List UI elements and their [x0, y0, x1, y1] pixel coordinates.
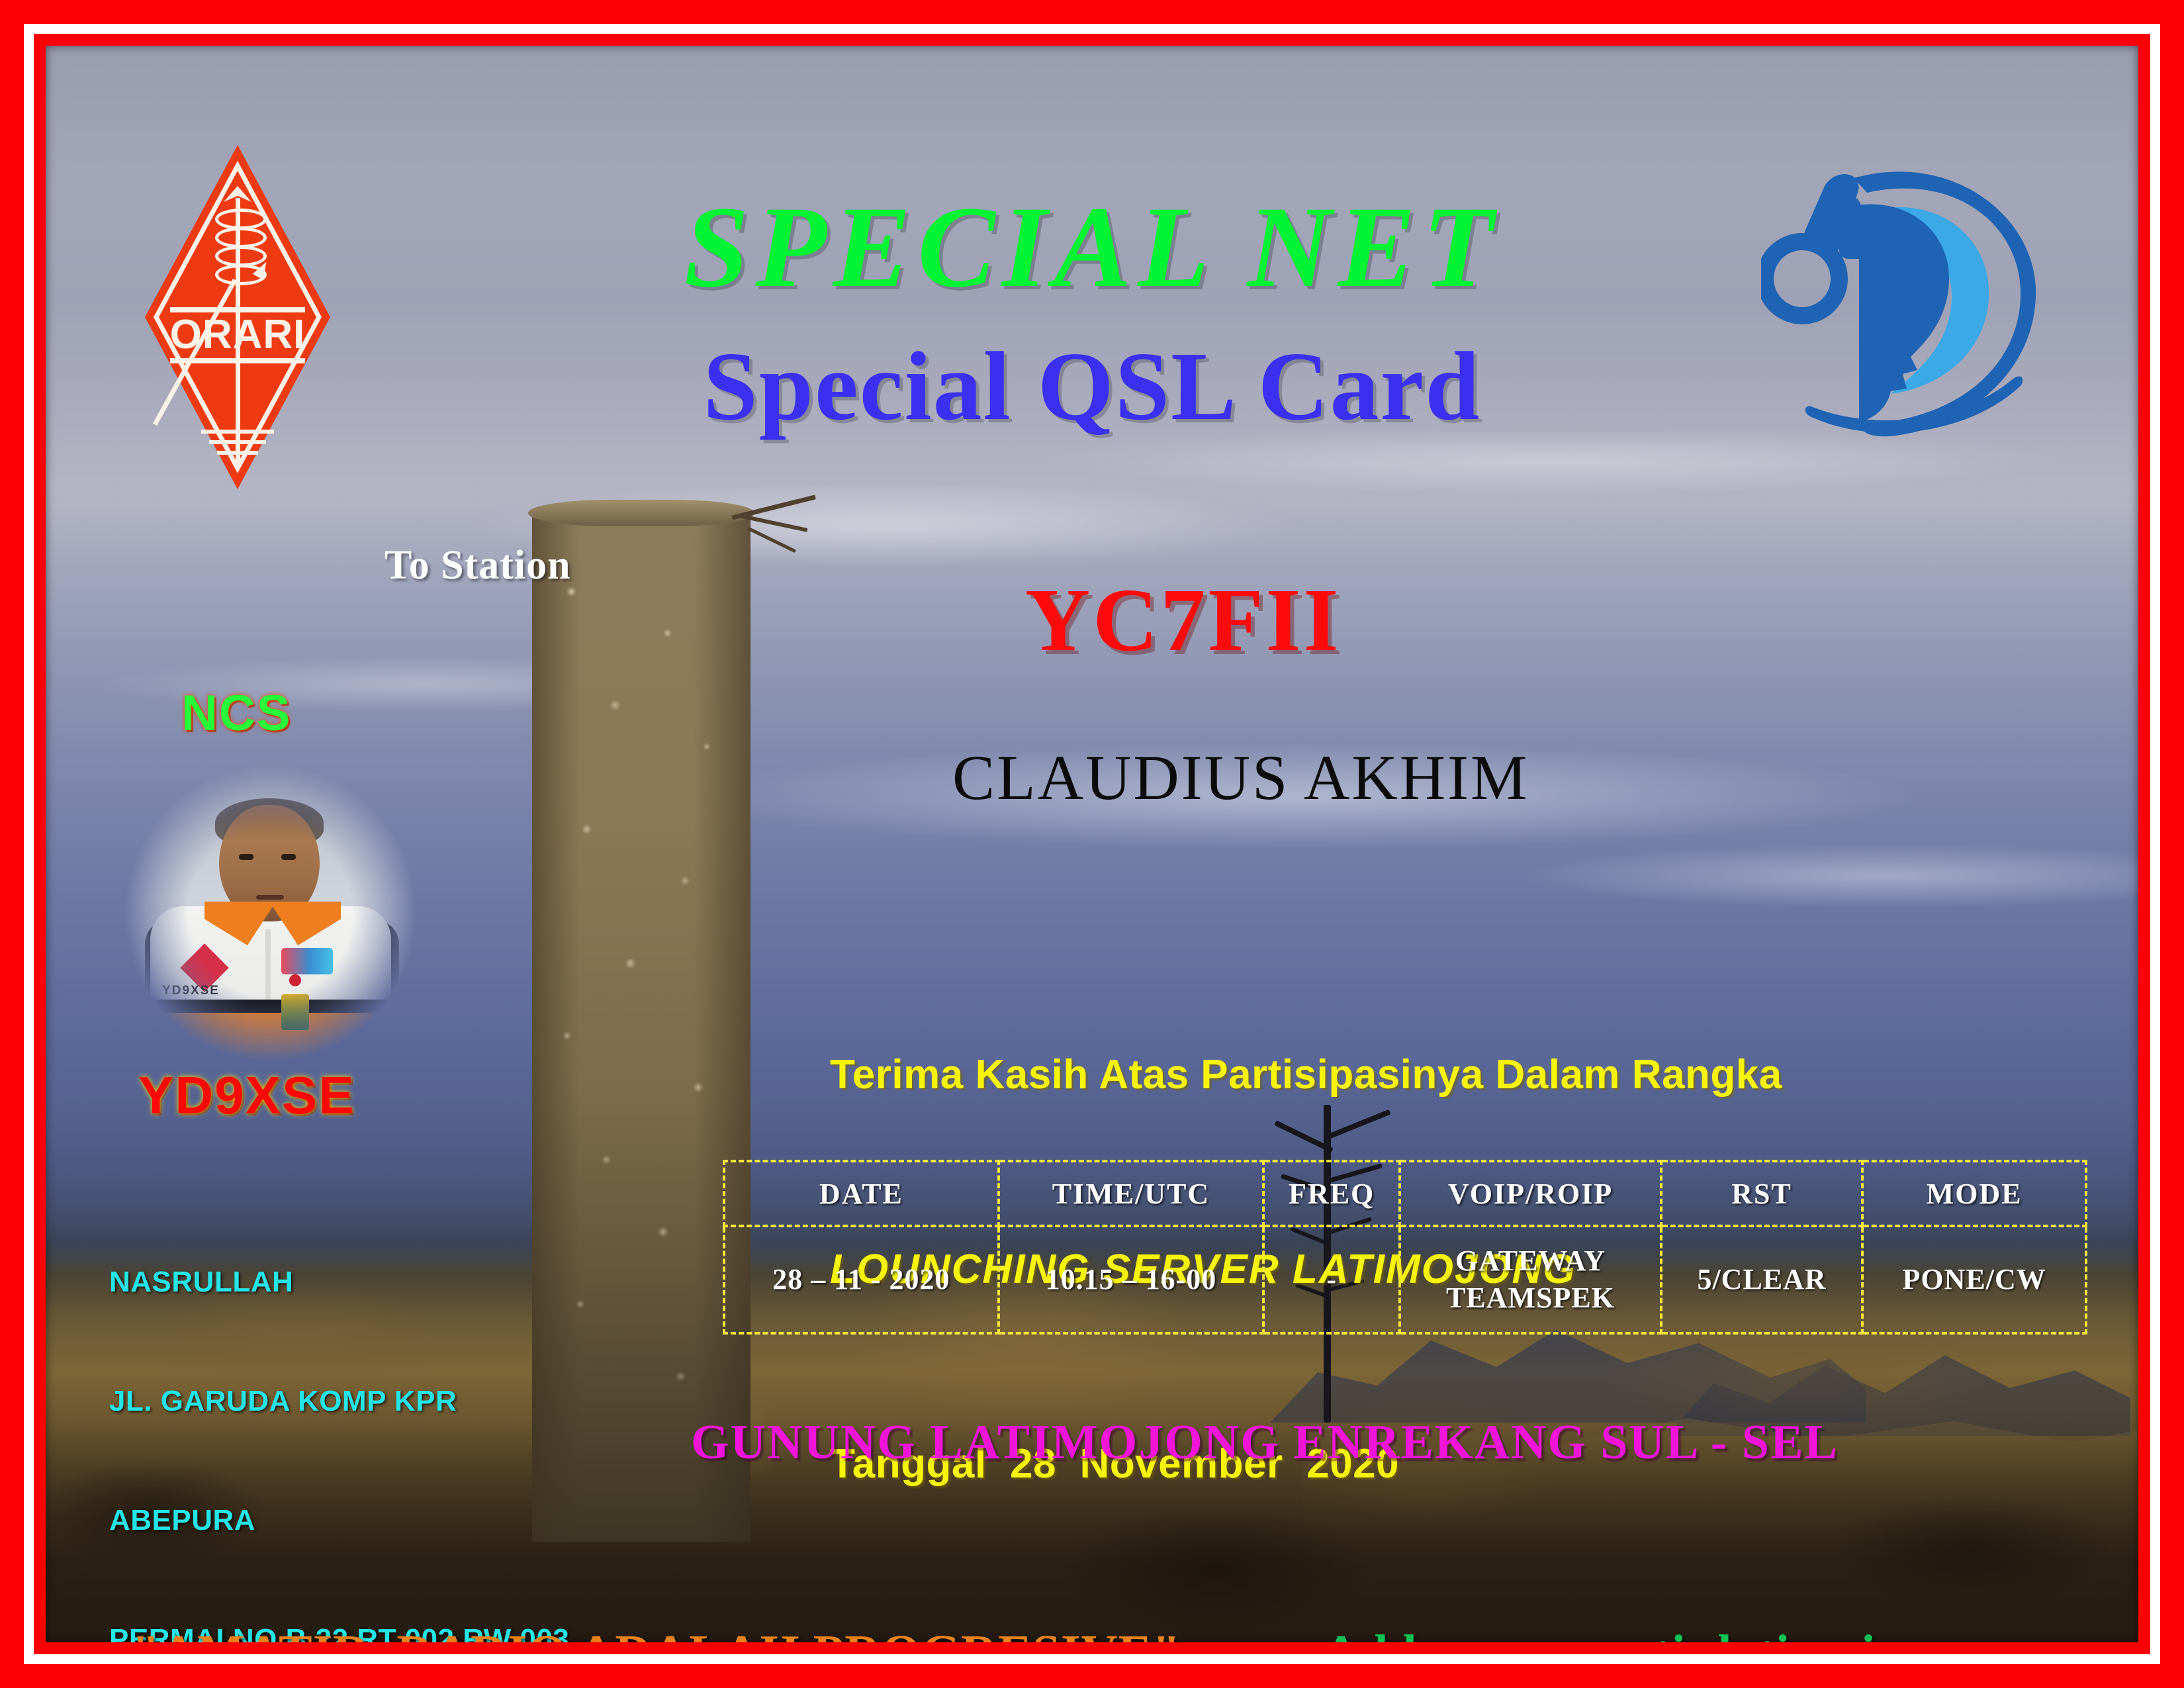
qsl-card: ORARI	[0, 0, 2184, 1688]
station-callsign: YC7FII	[1025, 569, 1341, 672]
address-block: NASRULLAH JL. GARUDA KOMP KPR ABEPURA PE…	[109, 1183, 569, 1642]
ncs-callsign: YD9XSE	[138, 1065, 355, 1126]
table-header-row: DATE TIME/UTC FREQ VOIP/ROIP RST MODE	[724, 1161, 2086, 1226]
orari-ground-symbol	[209, 440, 266, 444]
heading-special-qsl-card: Special QSL Card	[46, 337, 2138, 436]
cell-time: 10.15 – 16-00	[999, 1226, 1263, 1333]
uniform-callsign-tag: YD9XSE	[162, 984, 220, 998]
col-header-mode: MODE	[1862, 1161, 2086, 1226]
cell-date: 28 – 11 - 2020	[724, 1226, 999, 1333]
heading-special-net: SPECIAL NET	[46, 188, 2138, 307]
inner-red-frame: ORARI	[34, 34, 2150, 1654]
cell-rst: 5/CLEAR	[1661, 1226, 1862, 1333]
operator-name: CLAUDIUS AKHIM	[952, 741, 1529, 814]
cell-freq: -	[1263, 1226, 1400, 1333]
ncs-operator-photo: YD9XSE	[118, 764, 423, 1062]
cell-voip: GATEWAY TEAMSPEK	[1400, 1226, 1661, 1333]
address-line: NASRULLAH	[109, 1262, 569, 1302]
col-header-rst: RST	[1661, 1161, 1862, 1226]
col-header-freq: FREQ	[1263, 1161, 1400, 1226]
address-line: JL. GARUDA KOMP KPR	[109, 1382, 569, 1421]
qso-log-table: DATE TIME/UTC FREQ VOIP/ROIP RST MODE 28…	[723, 1160, 2087, 1335]
uniform-waist	[150, 1013, 391, 1062]
cell-mode: PONE/CW	[1862, 1226, 2086, 1333]
operator-mouth	[256, 895, 284, 900]
uniform-lanyard-knot	[289, 974, 301, 986]
footer-motto: "AMATIR RADIO ADALAH PROGRESIVE"	[132, 1624, 1181, 1642]
white-frame-gap: ORARI	[24, 24, 2160, 1664]
monument-twig	[731, 494, 816, 520]
monument-cap	[528, 500, 754, 526]
address-line: ABEPURA	[109, 1501, 569, 1540]
monument-twig	[739, 514, 808, 532]
operator-eye-right	[281, 854, 296, 860]
uniform-id-badge	[281, 994, 309, 1030]
to-station-label: To Station	[385, 542, 571, 589]
col-header-date: DATE	[724, 1161, 999, 1226]
operator-eye-left	[239, 854, 253, 860]
footer-address: Address : amatir.latimojong.com	[1323, 1624, 2061, 1642]
monument-twig	[747, 527, 796, 553]
col-header-time: TIME/UTC	[999, 1161, 1263, 1226]
location-label: GUNUNG LATIMOJONG ENREKANG SUL - SEL	[691, 1415, 1839, 1471]
ncs-label: NCS	[181, 684, 291, 742]
thanks-line-1: Terima Kasih Atas Partisipasinya Dalam R…	[830, 1043, 1782, 1107]
table-row: 28 – 11 - 2020 10.15 – 16-00 - GATEWAY T…	[724, 1226, 2086, 1333]
card-background-photo: ORARI	[46, 46, 2138, 1642]
orari-ground-symbol	[217, 451, 258, 455]
col-header-voip: VOIP/ROIP	[1400, 1161, 1661, 1226]
uniform-patch-right	[281, 948, 333, 974]
